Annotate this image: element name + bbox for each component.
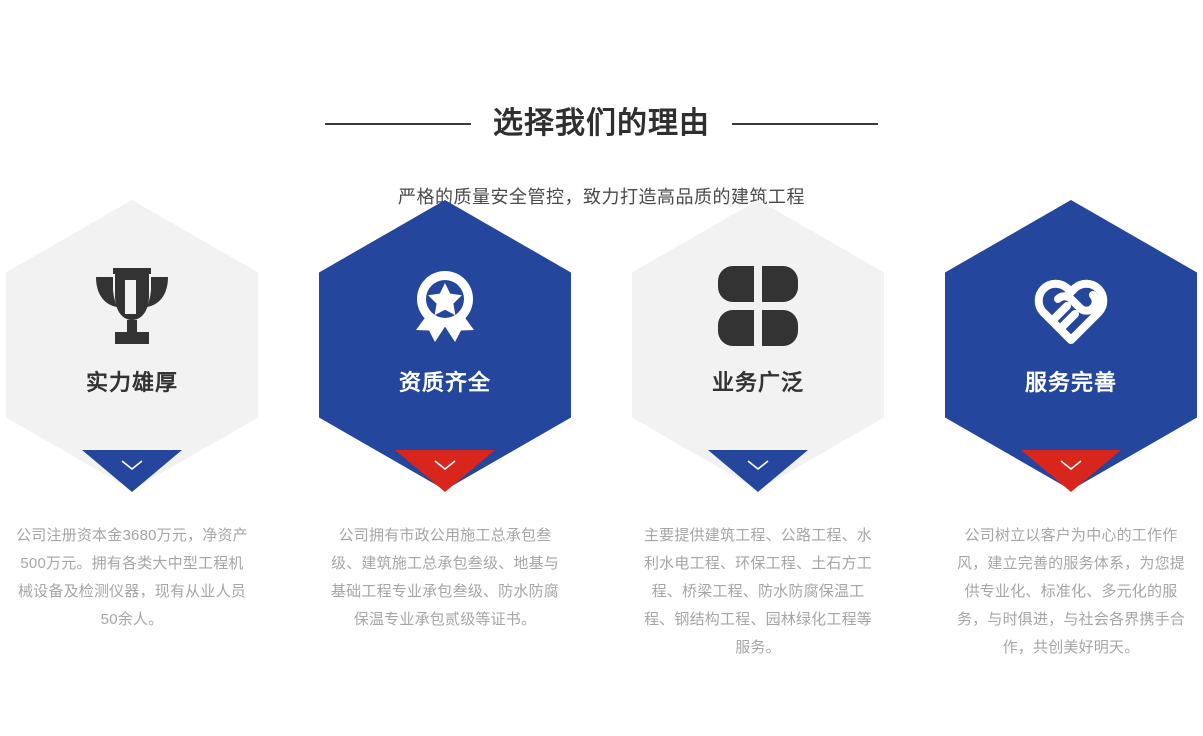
hexagon-shape: 业务广泛: [632, 200, 884, 490]
four-petal-clover-icon: [710, 258, 806, 354]
expand-arrow-button[interactable]: [395, 450, 495, 492]
handshake-heart-icon: [1023, 258, 1119, 354]
hexagon-wrapper[interactable]: 业务广泛: [632, 200, 884, 490]
feature-card-strength[interactable]: 实力雄厚 公司注册资本金3680万元，净资产500万元。拥有各类大中型工程机械设…: [6, 200, 258, 677]
feature-card-text: 公司树立以客户为中心的工作作风，建立完善的服务体系，为您提供专业化、标准化、多元…: [945, 522, 1197, 662]
expand-arrow-button[interactable]: [1021, 450, 1121, 492]
feature-card-label: 服务完善: [1025, 368, 1117, 398]
hexagon-wrapper[interactable]: 实力雄厚: [6, 200, 258, 490]
feature-card-label: 实力雄厚: [86, 368, 178, 398]
feature-card-service[interactable]: 服务完善 公司树立以客户为中心的工作作风，建立完善的服务体系，为您提供专业化、标…: [945, 200, 1197, 677]
hexagon-wrapper[interactable]: 资质齐全: [319, 200, 571, 490]
title-rule-left: [325, 123, 471, 125]
feature-card-qualifications[interactable]: 资质齐全 公司拥有市政公用施工总承包叁级、建筑施工总承包叁级、地基与基础工程专业…: [319, 200, 571, 677]
hexagon-wrapper[interactable]: 服务完善: [945, 200, 1197, 490]
section-heading: 选择我们的理由 严格的质量安全管控，致力打造高品质的建筑工程: [0, 78, 1203, 210]
medal-star-icon: [397, 258, 493, 354]
expand-arrow-button[interactable]: [708, 450, 808, 492]
expand-arrow-button[interactable]: [82, 450, 182, 492]
feature-card-text: 主要提供建筑工程、公路工程、水利水电工程、环保工程、土石方工程、桥梁工程、防水防…: [632, 522, 884, 662]
hexagon-shape: 资质齐全: [319, 200, 571, 490]
feature-card-text: 公司拥有市政公用施工总承包叁级、建筑施工总承包叁级、地基与基础工程专业承包叁级、…: [319, 522, 571, 634]
feature-card-business-scope[interactable]: 业务广泛 主要提供建筑工程、公路工程、水利水电工程、环保工程、土石方工程、桥梁工…: [632, 200, 884, 677]
hexagon-shape: 实力雄厚: [6, 200, 258, 490]
title-rule-right: [732, 123, 878, 125]
feature-card-label: 资质齐全: [399, 368, 491, 398]
why-choose-us-section: 选择我们的理由 严格的质量安全管控，致力打造高品质的建筑工程: [0, 0, 1203, 736]
title-row: 选择我们的理由: [0, 78, 1203, 170]
feature-card-label: 业务广泛: [712, 368, 804, 398]
hexagon-shape: 服务完善: [945, 200, 1197, 490]
feature-card-list: 实力雄厚 公司注册资本金3680万元，净资产500万元。拥有各类大中型工程机械设…: [0, 200, 1203, 677]
page-title: 选择我们的理由: [493, 103, 710, 145]
feature-card-text: 公司注册资本金3680万元，净资产500万元。拥有各类大中型工程机械设备及检测仪…: [6, 522, 258, 634]
trophy-icon: [84, 258, 180, 354]
